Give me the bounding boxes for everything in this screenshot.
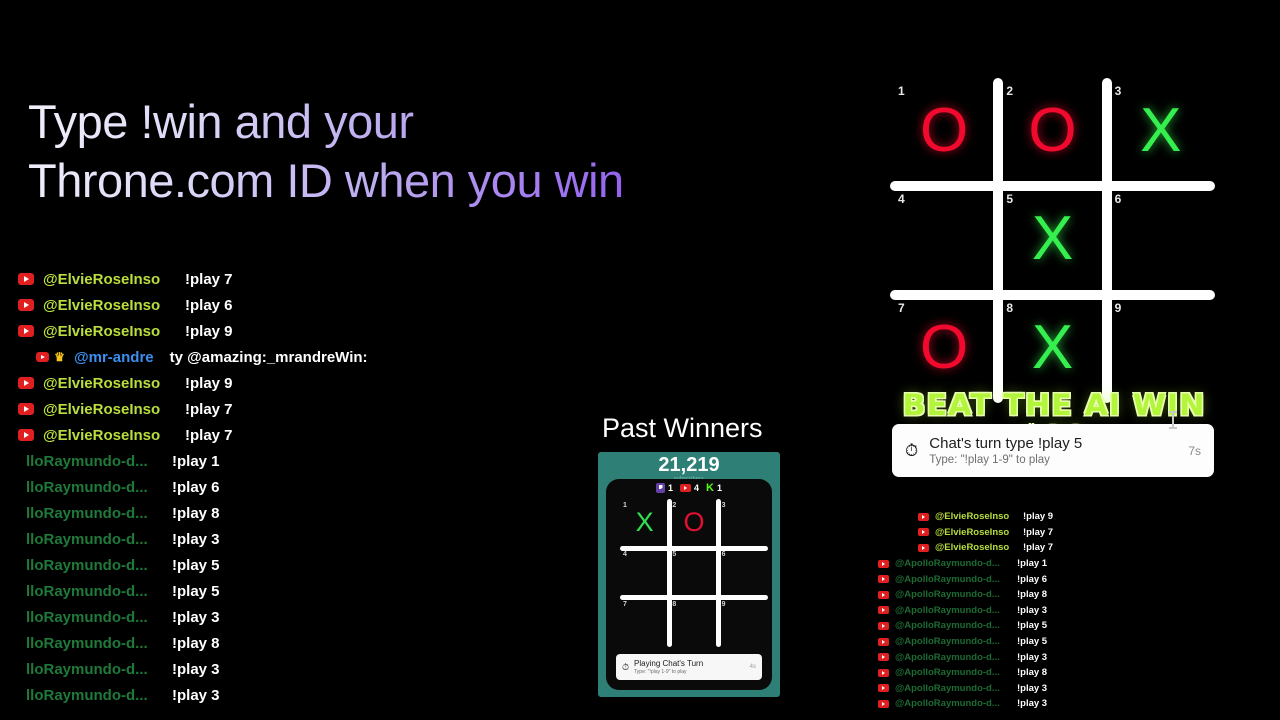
chat-message-text: !play 7 [185, 271, 233, 288]
chat-username: @ElvieRoseInso [43, 323, 185, 340]
youtube-icon [18, 429, 34, 441]
chat-message-row: lloRaymundo-d...!play 3 [0, 604, 520, 630]
chat-message-row: @ApolloRaymundo-d...!play 3 [878, 696, 1278, 712]
chat-message-text: !play 3 [172, 531, 220, 548]
chat-message-text: !play 3 [172, 687, 220, 704]
platform-badge-count: 4 [694, 484, 699, 493]
board-cell-mark[interactable]: X [1107, 100, 1215, 162]
youtube-icon [918, 528, 929, 536]
board-cell-number: 8 [1006, 301, 1013, 315]
chat-message-text: !play 6 [172, 479, 220, 496]
chat-message-text: !play 8 [1017, 589, 1047, 600]
board-cell-number: 7 [623, 601, 627, 608]
chat-message-text: !play 6 [1017, 574, 1047, 585]
mini-turn-timer: 4s [750, 664, 756, 670]
board-cell-mark[interactable]: O [998, 100, 1106, 162]
chat-message-text: !play 8 [1017, 667, 1047, 678]
chat-username: @ElvieRoseInso [43, 427, 185, 444]
mini-turn-title: Playing Chat's Turn [634, 659, 745, 669]
stopwatch-icon: ⏱ [905, 442, 918, 459]
chat-message-row: ♛@mr-andrety @amazing:_mrandreWin: [0, 344, 520, 370]
youtube-icon [878, 622, 889, 630]
chat-message-text: !play 5 [1017, 620, 1047, 631]
chat-username: @ElvieRoseInso [43, 271, 185, 288]
chat-message-text: !play 3 [172, 661, 220, 678]
board-grid-line-horizontal [620, 595, 768, 600]
chat-message-text: !play 3 [1017, 605, 1047, 616]
chat-message-row: lloRaymundo-d...!play 5 [0, 578, 520, 604]
youtube-icon [878, 575, 889, 583]
chat-username: @ApolloRaymundo-d... [895, 683, 1017, 694]
youtube-icon [878, 653, 889, 661]
chat-badges: ♛ [36, 352, 66, 363]
board-cell-number: 5 [672, 551, 676, 558]
youtube-icon [878, 669, 889, 677]
chat-message-row: lloRaymundo-d...!play 8 [0, 630, 520, 656]
chat-message-text: !play 9 [1023, 511, 1053, 522]
mini-turn-subtitle: Type: "!play 1-9" to play [634, 669, 745, 676]
chat-message-text: !play 7 [185, 427, 233, 444]
youtube-icon [878, 684, 889, 692]
platform-badge-count: 1 [668, 484, 673, 493]
page-title: Type !win and your Throne.com ID when yo… [28, 92, 748, 210]
chat-username: lloRaymundo-d... [0, 453, 172, 470]
chat-username: lloRaymundo-d... [0, 505, 172, 522]
chat-message-text: !play 3 [1017, 652, 1047, 663]
chat-username: @ElvieRoseInso [935, 527, 1023, 538]
chat-username: @ApolloRaymundo-d... [895, 698, 1017, 709]
chat-username: lloRaymundo-d... [0, 583, 172, 600]
chat-message-row: @ApolloRaymundo-d...!play 3 [878, 681, 1278, 697]
chat-message-row: @ApolloRaymundo-d...!play 1 [878, 556, 1278, 572]
youtube-icon [878, 560, 889, 568]
chat-message-row: @ApolloRaymundo-d...!play 8 [878, 587, 1278, 603]
board-cell-number: 4 [898, 192, 905, 206]
board-cell-number: 9 [1115, 301, 1122, 315]
youtube-icon [878, 591, 889, 599]
turn-status-card: ⏱ Chat's turn type !play 5 Type: "!play … [892, 424, 1214, 477]
youtube-icon [878, 606, 889, 614]
mini-turn-card: ⏱ Playing Chat's Turn Type: "!play 1-9" … [616, 654, 762, 680]
youtube-icon [18, 325, 34, 337]
chat-username: @ElvieRoseInso [43, 375, 185, 392]
right-chat-feed: @ElvieRoseInso!play 9@ElvieRoseInso!play… [878, 509, 1278, 712]
board-cell-mark[interactable]: O [890, 317, 998, 379]
subscriber-count: 21,219 [599, 453, 779, 476]
chat-message-text: !play 8 [172, 505, 220, 522]
text-cursor-icon [1172, 411, 1174, 429]
chat-username: lloRaymundo-d... [0, 531, 172, 548]
platform-badge-count: 1 [717, 484, 722, 493]
chat-message-row: @ElvieRoseInso!play 6 [0, 292, 520, 318]
board-cell-number: 3 [722, 502, 726, 509]
chat-username: @ApolloRaymundo-d... [895, 605, 1017, 616]
chat-username: @ApolloRaymundo-d... [895, 558, 1017, 569]
chat-message-row: @ElvieRoseInso!play 7 [0, 422, 520, 448]
chat-username: lloRaymundo-d... [0, 609, 172, 626]
chat-username: @mr-andre [74, 349, 154, 366]
board-cell-mark[interactable]: O [669, 509, 718, 536]
stopwatch-icon: ⏱ [622, 663, 629, 672]
chat-username: lloRaymundo-d... [0, 661, 172, 678]
chat-badges [18, 299, 34, 311]
chat-message-text: !play 3 [1017, 683, 1047, 694]
twitch-icon [656, 483, 665, 493]
chat-message-text: !play 5 [172, 557, 220, 574]
chat-message-text: !play 3 [172, 609, 220, 626]
board-cell-number: 7 [898, 301, 905, 315]
board-cell-mark[interactable]: X [998, 208, 1106, 270]
chat-message-text: !play 3 [1017, 698, 1047, 709]
chat-badges [18, 377, 34, 389]
phone-screen: 14K1 1X2O3456789 ⏱ Playing Chat's Turn T… [606, 479, 772, 690]
chat-message-row: lloRaymundo-d...!play 3 [0, 526, 520, 552]
chat-username: @ElvieRoseInso [935, 542, 1023, 553]
chat-message-text: !play 9 [185, 323, 233, 340]
chat-message-text: !play 9 [185, 375, 233, 392]
board-cell-number: 1 [898, 84, 905, 98]
youtube-icon [918, 544, 929, 552]
board-grid-line-horizontal [890, 290, 1215, 300]
chat-message-row: lloRaymundo-d...!play 5 [0, 552, 520, 578]
board-cell-mark[interactable]: O [890, 100, 998, 162]
youtube-icon [36, 352, 49, 362]
main-tictactoe-board[interactable]: 1O2O3X45X67O8X9 [890, 78, 1215, 403]
youtube-icon [918, 513, 929, 521]
chat-message-row: lloRaymundo-d...!play 8 [0, 500, 520, 526]
past-winners-panel: 21,219 subscribers 14K1 1X2O3456789 ⏱ Pl… [598, 452, 780, 697]
youtube-icon [878, 638, 889, 646]
turn-card-timer: 7s [1188, 444, 1201, 458]
youtube-icon [18, 273, 34, 285]
board-cell-number: 8 [672, 601, 676, 608]
chat-username: @ApolloRaymundo-d... [895, 652, 1017, 663]
chat-message-text: !play 7 [1023, 542, 1053, 553]
chat-username: @ApolloRaymundo-d... [895, 667, 1017, 678]
board-cell-number: 2 [1006, 84, 1013, 98]
chat-badges [18, 325, 34, 337]
youtube-icon [18, 377, 34, 389]
board-cell-number: 1 [623, 502, 627, 509]
chat-message-row: @ApolloRaymundo-d...!play 8 [878, 665, 1278, 681]
chat-message-row: @ApolloRaymundo-d...!play 5 [878, 618, 1278, 634]
chat-badges [18, 273, 34, 285]
board-cell-number: 6 [722, 551, 726, 558]
chat-badges [18, 429, 34, 441]
board-cell-number: 3 [1115, 84, 1122, 98]
chat-username: lloRaymundo-d... [0, 557, 172, 574]
chat-username: @ApolloRaymundo-d... [895, 620, 1017, 631]
board-cell-number: 4 [623, 551, 627, 558]
chat-message-row: @ElvieRoseInso!play 7 [878, 540, 1278, 556]
board-cell-mark[interactable]: X [620, 509, 669, 536]
chat-username: lloRaymundo-d... [0, 479, 172, 496]
chat-message-text: !play 5 [172, 583, 220, 600]
board-cell-number: 2 [672, 502, 676, 509]
chat-message-row: @ElvieRoseInso!play 9 [878, 509, 1278, 525]
platform-badge: K1 [706, 483, 722, 493]
chat-message-text: !play 5 [1017, 636, 1047, 647]
youtube-icon [878, 700, 889, 708]
turn-card-subtitle: Type: "!play 1-9" to play [929, 453, 1177, 468]
chat-message-row: @ApolloRaymundo-d...!play 3 [878, 603, 1278, 619]
turn-card-title: Chat's turn type !play 5 [929, 434, 1177, 453]
chat-message-row: @ElvieRoseInso!play 7 [878, 525, 1278, 541]
chat-badges [18, 403, 34, 415]
chat-message-text: ty @amazing:_mrandreWin: [170, 349, 368, 366]
chat-message-text: !play 6 [185, 297, 233, 314]
chat-message-text: !play 1 [172, 453, 220, 470]
platform-badge: 1 [656, 483, 673, 493]
board-grid-line-horizontal [620, 546, 768, 551]
chat-username: @ElvieRoseInso [935, 511, 1023, 522]
chat-message-row: lloRaymundo-d...!play 3 [0, 682, 520, 708]
chat-message-text: !play 7 [1023, 527, 1053, 538]
chat-message-text: !play 7 [185, 401, 233, 418]
stream-overlay-stage: Type !win and your Throne.com ID when yo… [0, 0, 1280, 720]
kick-icon: K [706, 483, 714, 493]
chat-message-row: @ElvieRoseInso!play 9 [0, 370, 520, 396]
board-cell-number: 5 [1006, 192, 1013, 206]
chat-message-row: @ElvieRoseInso!play 7 [0, 266, 520, 292]
youtube-icon [680, 484, 691, 492]
chat-message-row: lloRaymundo-d...!play 6 [0, 474, 520, 500]
platform-badge: 4 [680, 484, 699, 493]
chat-username: @ApolloRaymundo-d... [895, 589, 1017, 600]
youtube-icon [18, 299, 34, 311]
board-cell-number: 6 [1115, 192, 1122, 206]
left-chat-feed: @ElvieRoseInso!play 7@ElvieRoseInso!play… [0, 266, 520, 708]
mini-tictactoe-board: 1X2O3456789 [620, 499, 768, 647]
chat-message-row: lloRaymundo-d...!play 3 [0, 656, 520, 682]
chat-username: @ApolloRaymundo-d... [895, 574, 1017, 585]
board-grid-line-horizontal [890, 181, 1215, 191]
chat-message-row: @ApolloRaymundo-d...!play 5 [878, 634, 1278, 650]
chat-message-row: lloRaymundo-d...!play 1 [0, 448, 520, 474]
chat-message-row: @ApolloRaymundo-d...!play 6 [878, 571, 1278, 587]
chat-username: lloRaymundo-d... [0, 635, 172, 652]
youtube-icon [18, 403, 34, 415]
chat-message-text: !play 1 [1017, 558, 1047, 569]
chat-username: @ElvieRoseInso [43, 401, 185, 418]
platform-badge-row: 14K1 [606, 479, 772, 493]
board-cell-number: 9 [722, 601, 726, 608]
chat-message-row: @ElvieRoseInso!play 9 [0, 318, 520, 344]
chat-username: lloRaymundo-d... [0, 687, 172, 704]
chat-message-row: @ApolloRaymundo-d...!play 3 [878, 649, 1278, 665]
chat-message-text: !play 8 [172, 635, 220, 652]
chat-username: @ApolloRaymundo-d... [895, 636, 1017, 647]
past-winners-title: Past Winners [602, 413, 763, 444]
chat-username: @ElvieRoseInso [43, 297, 185, 314]
crown-icon: ♛ [53, 352, 66, 363]
chat-message-row: @ElvieRoseInso!play 7 [0, 396, 520, 422]
board-cell-mark[interactable]: X [998, 317, 1106, 379]
